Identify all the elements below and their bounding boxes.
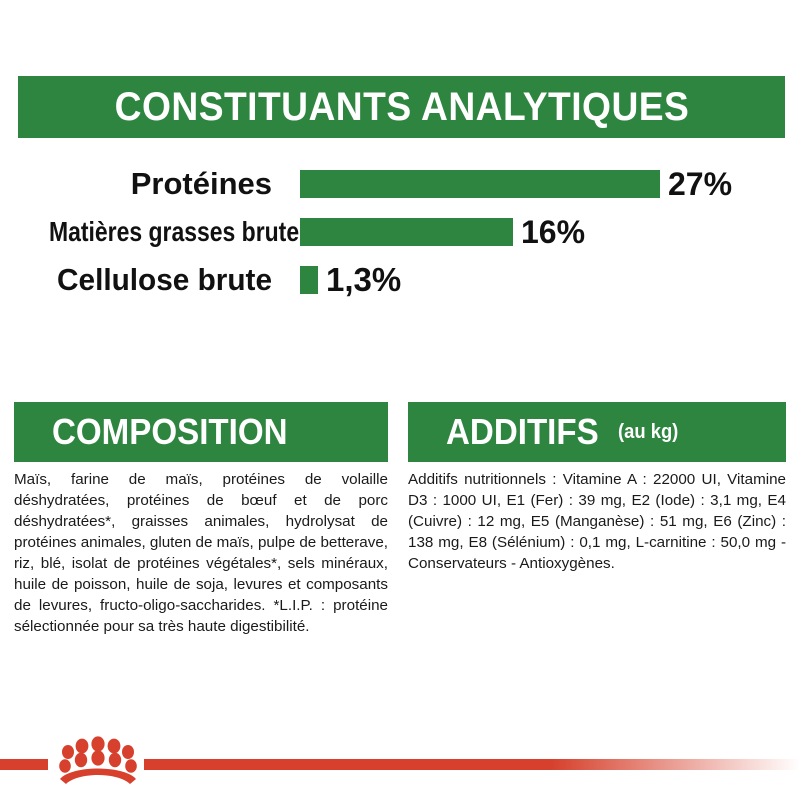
footer-rule-right [144, 759, 800, 770]
bar-label-cellulose-brute: Cellulose brute [11, 262, 272, 298]
composition-body-text: Maïs, farine de maïs, protéines de volai… [14, 469, 388, 637]
additives-title: ADDITIFS [446, 411, 599, 453]
bar-matieres-grasses-brutes [300, 218, 513, 246]
additives-body-text: Additifs nutritionnels : Vitamine A : 22… [408, 469, 786, 574]
bar-value-matieres-grasses-brutes: 16% [521, 214, 585, 251]
additives-panel: ADDITIFS (au kg) Additifs nutritionnels … [388, 402, 800, 637]
bar-proteines [300, 170, 660, 198]
analytical-constituents-chart: Protéines 27% Matières grasses brutes 16… [0, 160, 800, 304]
bar-value-proteines: 27% [668, 166, 732, 203]
bar-value-cellulose-brute: 1,3% [326, 261, 401, 299]
chart-row: Cellulose brute 1,3% [0, 256, 800, 304]
info-panels: COMPOSITION Maïs, farine de maïs, protéi… [0, 402, 800, 637]
bar-label-matieres-grasses-brutes: Matières grasses brutes [49, 216, 272, 248]
footer-rule-left [0, 759, 48, 770]
page-title: CONSTITUANTS ANALYTIQUES [114, 85, 689, 130]
bar-cellulose-brute [300, 266, 318, 294]
composition-header: COMPOSITION [14, 402, 388, 462]
composition-panel: COMPOSITION Maïs, farine de maïs, protéi… [0, 402, 388, 637]
royal-canin-crown-icon [56, 735, 140, 787]
chart-row: Matières grasses brutes 16% [0, 208, 800, 256]
bar-track: 1,3% [272, 256, 800, 304]
brand-footer [0, 735, 800, 795]
additives-header: ADDITIFS (au kg) [408, 402, 786, 462]
analytical-constituents-banner: CONSTITUANTS ANALYTIQUES [18, 76, 785, 138]
composition-title: COMPOSITION [52, 411, 288, 453]
bar-track: 27% [272, 160, 800, 208]
additives-subtitle: (au kg) [618, 421, 678, 444]
chart-row: Protéines 27% [0, 160, 800, 208]
bar-label-proteines: Protéines [0, 166, 272, 202]
bar-track: 16% [272, 208, 800, 256]
